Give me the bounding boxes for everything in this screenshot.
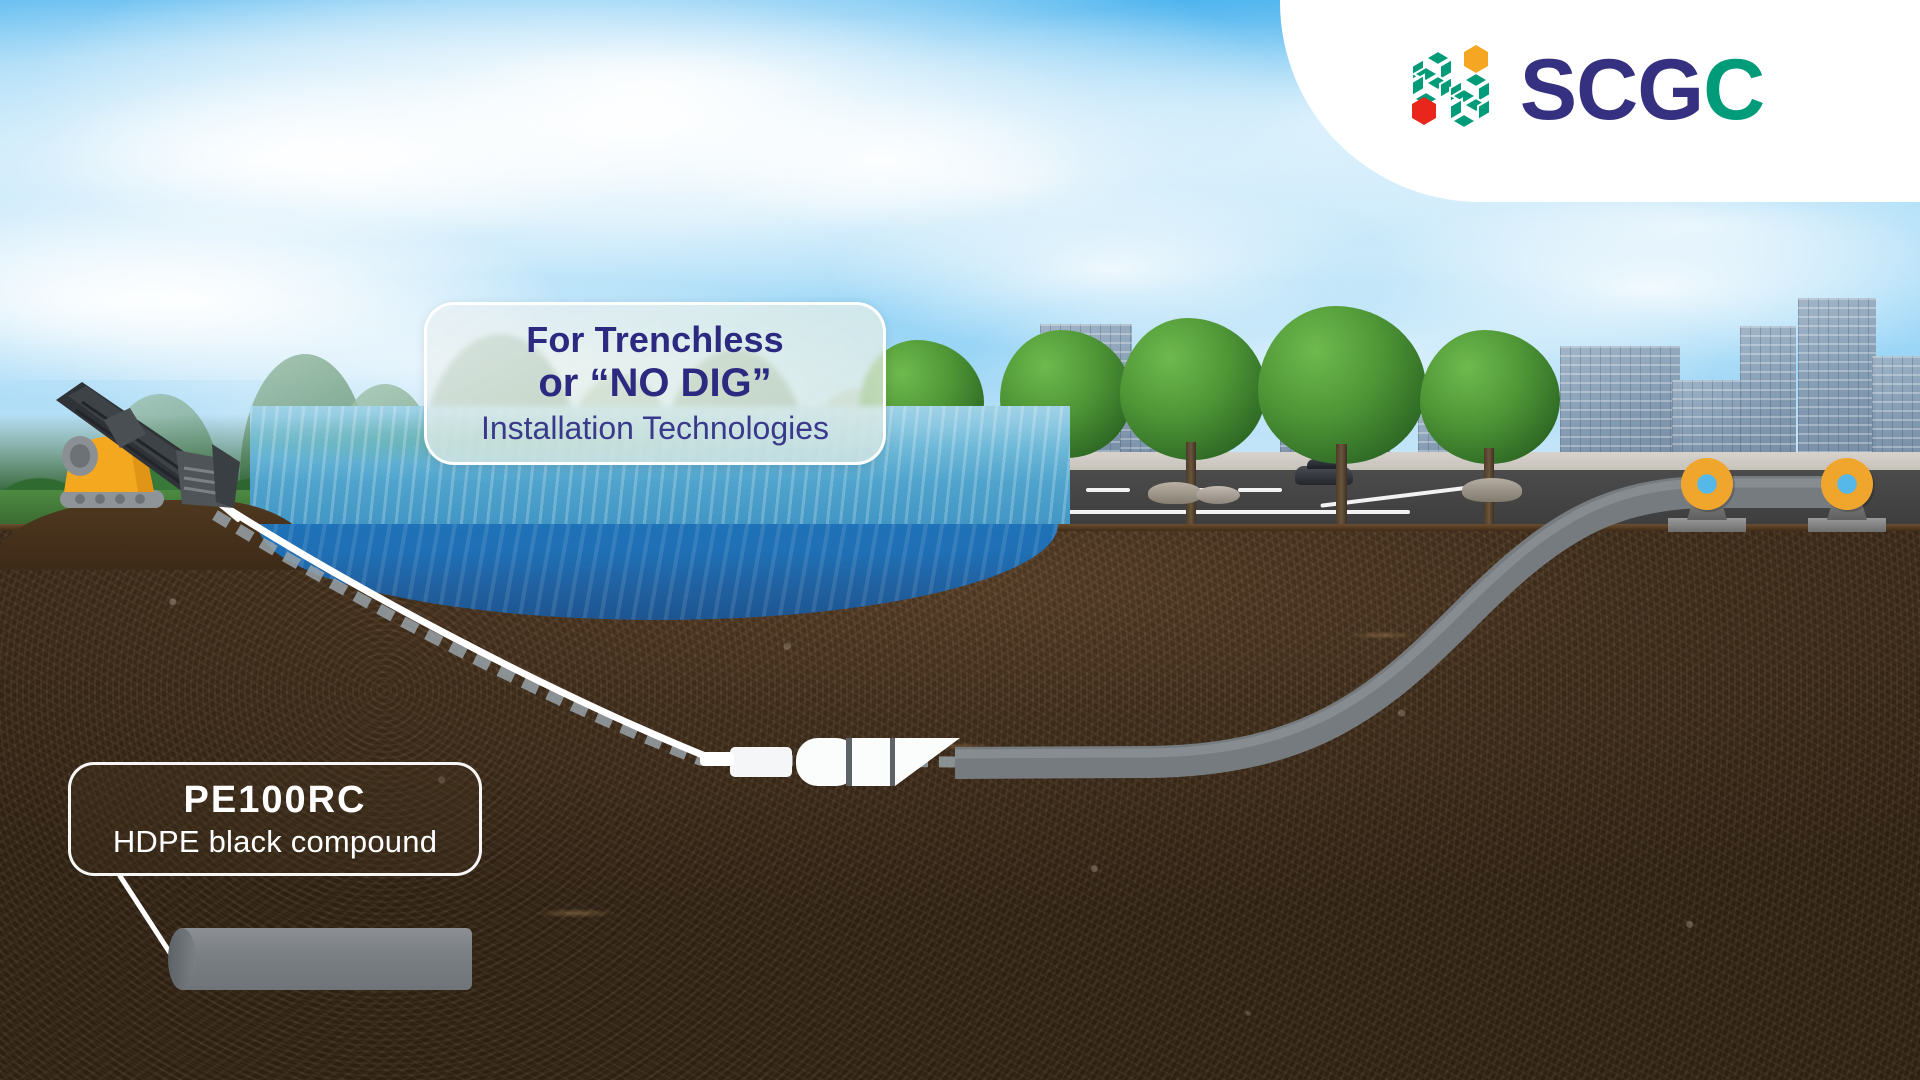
boulder [1462,478,1522,502]
callout-pe100rc-title: PE100RC [184,779,367,822]
roller-base [1808,518,1886,532]
river-cross-section [258,524,1058,620]
callout-pe100rc: PE100RC HDPE black compound [68,762,482,876]
street-tree [1258,306,1426,528]
pipe-roller-stand [1668,452,1746,532]
roller-wheel [1821,458,1873,510]
horizontal-directional-drilling-rig [34,372,244,532]
boulder [1148,482,1202,504]
scgc-hexagon-logo [1394,42,1498,138]
callout-trenchless: For Trenchless or “NO DIG” Installation … [424,302,886,465]
callout-trenchless-line1: For Trenchless [526,321,784,359]
callout-trenchless-line3: Installation Technologies [481,412,829,446]
pipe-roller-stand [1808,452,1886,532]
callout-trenchless-line2: or “NO DIG” [538,362,771,404]
wordmark-c: C [1703,42,1764,138]
roller-base [1668,518,1746,532]
brand-logo-panel: SCGC [1280,0,1920,202]
pipe-sample-body [182,928,472,990]
pipe-sample-cylinder [182,928,472,990]
building [1798,298,1876,476]
logo-hex-orange [1464,45,1488,73]
scgc-wordmark: SCGC [1520,47,1764,133]
illustration-canvas: For Trenchless or “NO DIG” Installation … [0,0,1920,1080]
callout-pe100rc-subtitle: HDPE black compound [113,824,437,860]
boulder [1196,486,1240,504]
pipe-sample-end-cap [168,928,196,990]
roller-wheel [1681,458,1733,510]
wordmark-scg: SCG [1520,42,1703,138]
